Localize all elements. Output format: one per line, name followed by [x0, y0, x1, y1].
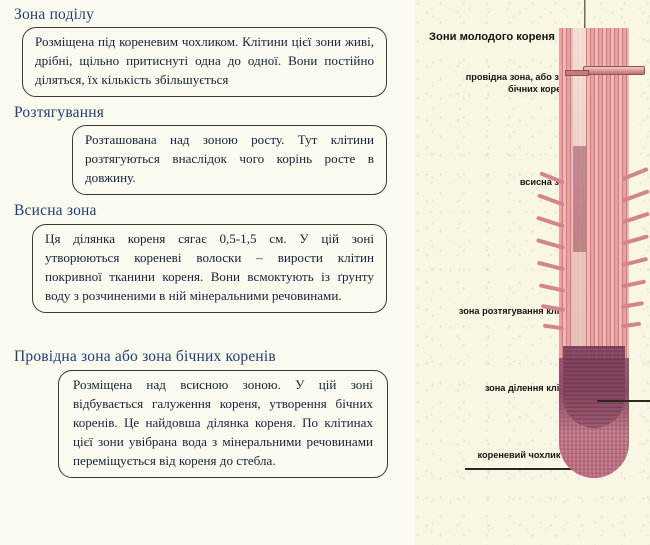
root-cortex-tissue: [559, 28, 629, 400]
zone-description-text: Розміщена над всисною зоною. У цій зоні …: [73, 376, 373, 471]
zone-description-absorption: Ця ділянка кореня сягає 0,5-1,5 см. У ці…: [32, 224, 387, 313]
meristem-pointer-line: [597, 400, 650, 402]
zone-heading-division: Зона поділу: [14, 6, 415, 24]
zone-heading-elongation: Розтягування: [14, 104, 415, 122]
lateral-root-branch: [583, 66, 645, 75]
zone-block-division: Зона поділу Розміщена під кореневим чохл…: [0, 6, 415, 97]
zone-description-elongation: Розташована над зоною росту. Тут клітини…: [72, 125, 387, 195]
root-diagram-panel: Зони молодого кореня провідна зона, або …: [415, 0, 650, 545]
zone-description-division: Розміщена під кореневим чохликом. Клітин…: [22, 27, 387, 97]
zone-heading-absorption: Всисна зона: [14, 202, 415, 220]
zone-description-text: Розміщена під кореневим чохликом. Клітин…: [35, 33, 374, 90]
root-vascular-cylinder-dark-segment: [573, 146, 586, 252]
zone-heading-conduction: Провідна зона або зона бічних коренів: [14, 348, 415, 366]
root-illustration: [545, 28, 650, 493]
zone-description-text: Розташована над зоною росту. Тут клітини…: [85, 131, 374, 188]
lateral-root-stub: [565, 70, 589, 76]
text-column: Зона поділу Розміщена під кореневим чохл…: [0, 0, 415, 545]
zone-description-text: Ця ділянка кореня сягає 0,5-1,5 см. У ці…: [45, 230, 374, 306]
zone-block-elongation: Розтягування Розташована над зоною росту…: [0, 104, 415, 195]
zone-block-absorption: Всисна зона Ця ділянка кореня сягає 0,5-…: [0, 202, 415, 313]
zone-block-conduction: Провідна зона або зона бічних коренів Ро…: [0, 348, 415, 478]
zone-description-conduction: Розміщена над всисною зоною. У цій зоні …: [58, 370, 388, 478]
apical-meristem: [563, 346, 625, 428]
slide-root: Зона поділу Розміщена під кореневим чохл…: [0, 0, 650, 545]
